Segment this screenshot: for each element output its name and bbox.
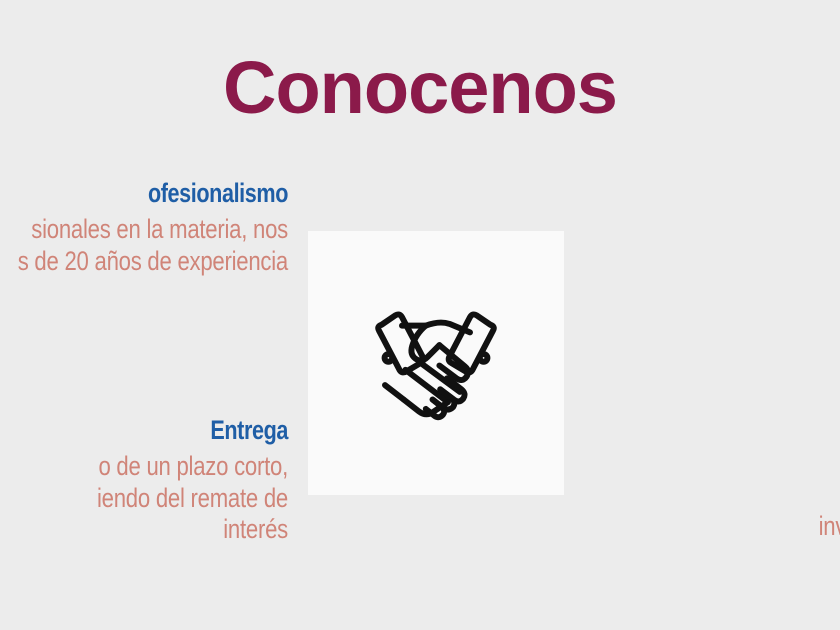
feature-body-line: iendo del remate de: [0, 483, 288, 515]
feature-heading-ganancias: Ganancias: [648, 412, 840, 442]
feature-body-line: interés: [0, 514, 288, 546]
feature-body-line: Desde el momento: [638, 214, 840, 246]
feature-block-profesionalismo: ofesionalismo sionales en la materia, no…: [0, 178, 288, 277]
feature-body-transparencia: Desde el momento contratación mantene es…: [638, 214, 840, 340]
handshake-icon: [351, 278, 521, 448]
center-icon-card: [308, 231, 564, 495]
feature-body-line: Opten rendimientos: [638, 448, 840, 480]
feature-body-line: contratación mantene: [638, 246, 840, 278]
feature-body-line: inversión en el mercado: [638, 511, 840, 543]
feature-body-profesionalismo: sionales en la materia, nos s de 20 años…: [0, 214, 288, 277]
feature-body-line: estrecha para darle in: [638, 277, 840, 309]
page-title: Conocenos: [0, 48, 840, 128]
slide-canvas: Conocenos ofesionalismo sionales en la m…: [0, 0, 840, 630]
feature-body-line: o de un plazo corto,: [0, 451, 288, 483]
feature-body-line: tiempo: [638, 543, 840, 575]
feature-body-line: s de 20 años de experiencia: [0, 246, 288, 278]
feature-heading-transparencia: Transparencia: [648, 178, 840, 208]
feature-body-entrega: o de un plazo corto, iendo del remate de…: [0, 451, 288, 546]
feature-body-line: sionales en la materia, nos: [0, 214, 288, 246]
feature-body-line: detallada del proceso: [638, 309, 840, 341]
feature-block-entrega: Entrega o de un plazo corto, iendo del r…: [0, 415, 288, 546]
feature-block-transparencia: Transparencia Desde el momento contratac…: [548, 178, 840, 341]
feature-heading-profesionalismo: ofesionalismo: [0, 178, 288, 208]
feature-heading-entrega: Entrega: [0, 415, 288, 445]
feature-body-line: cualquier otro instru: [638, 480, 840, 512]
feature-block-ganancias: Ganancias Opten rendimientos cualquier o…: [548, 412, 840, 575]
feature-body-ganancias: Opten rendimientos cualquier otro instru…: [638, 448, 840, 574]
